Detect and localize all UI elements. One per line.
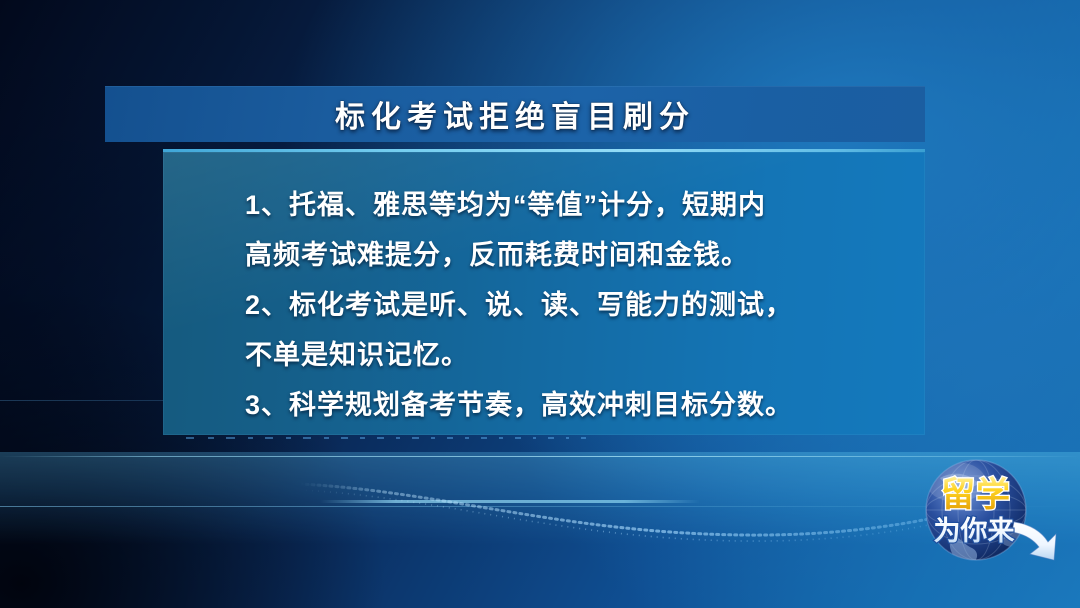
logo-line-2-text: 为你来 (934, 516, 1015, 546)
program-logo: 留学 为你来 (906, 444, 1062, 576)
body-line: 1、托福、雅思等均为“等值”计分，短期内 (245, 180, 899, 230)
body-line: 3、科学规划备考节奏，高效冲刺目标分数。 (245, 380, 899, 430)
body-line: 高频考试难提分，反而耗费时间和金钱。 (245, 230, 899, 280)
body-text-block: 1、托福、雅思等均为“等值”计分，短期内 高频考试难提分，反而耗费时间和金钱。 … (245, 180, 899, 430)
body-line: 2、标化考试是听、说、读、写能力的测试， (245, 280, 899, 330)
logo-line-1-text: 留学 (941, 475, 1011, 514)
content-panel: 1、托福、雅思等均为“等值”计分，短期内 高频考试难提分，反而耗费时间和金钱。 … (163, 152, 925, 435)
page-title: 标化考试拒绝盲目刷分 (105, 86, 925, 142)
sweep-curve-icon (300, 470, 1000, 580)
title-banner: 标化考试拒绝盲目刷分 (105, 86, 925, 142)
broadcast-slide: 标化考试拒绝盲目刷分 1、托福、雅思等均为“等值”计分，短期内 高频考试难提分，… (0, 0, 1080, 608)
body-line: 不单是知识记忆。 (245, 330, 899, 380)
